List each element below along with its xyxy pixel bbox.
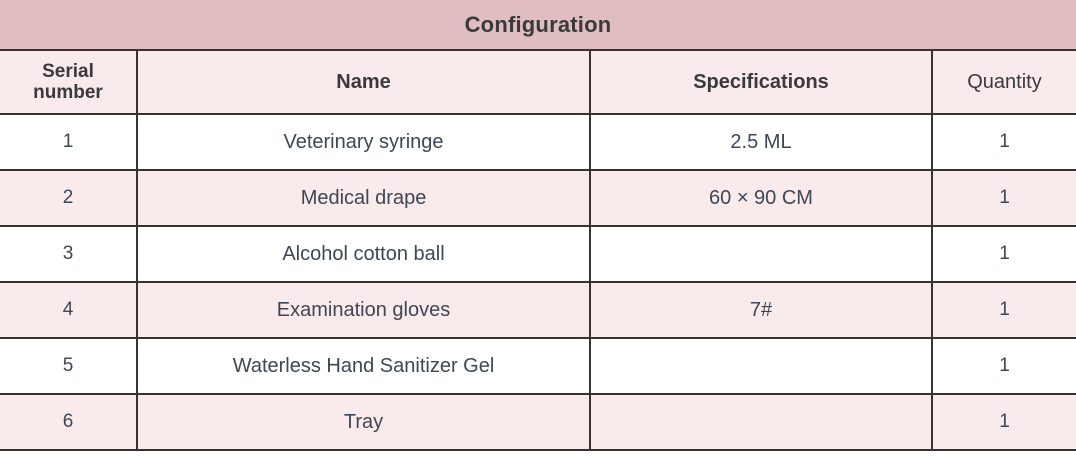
table-row: 2 Medical drape 60 × 90 CM 1 xyxy=(0,170,1076,226)
cell-specifications: 2.5 ML xyxy=(590,114,932,170)
cell-name: Waterless Hand Sanitizer Gel xyxy=(137,338,590,394)
cell-specifications xyxy=(590,338,932,394)
cell-specifications xyxy=(590,394,932,450)
cell-quantity: 1 xyxy=(932,338,1076,394)
cell-name: Medical drape xyxy=(137,170,590,226)
table-body: 1 Veterinary syringe 2.5 ML 1 2 Medical … xyxy=(0,114,1076,450)
table-title-bar: Configuration xyxy=(0,0,1076,49)
configuration-table: Serial number Name Specifications Quanti… xyxy=(0,49,1076,451)
cell-name: Examination gloves xyxy=(137,282,590,338)
cell-serial-number: 4 xyxy=(0,282,137,338)
table-row: 6 Tray 1 xyxy=(0,394,1076,450)
column-header-name: Name xyxy=(137,50,590,114)
cell-quantity: 1 xyxy=(932,114,1076,170)
table-row: 1 Veterinary syringe 2.5 ML 1 xyxy=(0,114,1076,170)
column-header-serial-line1: Serial xyxy=(42,61,94,82)
cell-quantity: 1 xyxy=(932,226,1076,282)
cell-specifications: 60 × 90 CM xyxy=(590,170,932,226)
cell-serial-number: 3 xyxy=(0,226,137,282)
cell-name: Tray xyxy=(137,394,590,450)
column-header-quantity: Quantity xyxy=(932,50,1076,114)
cell-name: Alcohol cotton ball xyxy=(137,226,590,282)
column-header-serial-line2: number xyxy=(33,82,103,103)
cell-serial-number: 6 xyxy=(0,394,137,450)
table-header-row: Serial number Name Specifications Quanti… xyxy=(0,50,1076,114)
page-title: Configuration xyxy=(465,14,612,36)
cell-serial-number: 2 xyxy=(0,170,137,226)
table-row: 3 Alcohol cotton ball 1 xyxy=(0,226,1076,282)
column-header-serial-number: Serial number xyxy=(0,50,137,114)
cell-serial-number: 5 xyxy=(0,338,137,394)
cell-specifications xyxy=(590,226,932,282)
cell-serial-number: 1 xyxy=(0,114,137,170)
table-row: 5 Waterless Hand Sanitizer Gel 1 xyxy=(0,338,1076,394)
cell-name: Veterinary syringe xyxy=(137,114,590,170)
cell-quantity: 1 xyxy=(932,394,1076,450)
table-row: 4 Examination gloves 7# 1 xyxy=(0,282,1076,338)
column-header-specifications: Specifications xyxy=(590,50,932,114)
cell-specifications: 7# xyxy=(590,282,932,338)
cell-quantity: 1 xyxy=(932,282,1076,338)
cell-quantity: 1 xyxy=(932,170,1076,226)
configuration-sheet: Configuration Serial number Name Specifi… xyxy=(0,0,1076,456)
